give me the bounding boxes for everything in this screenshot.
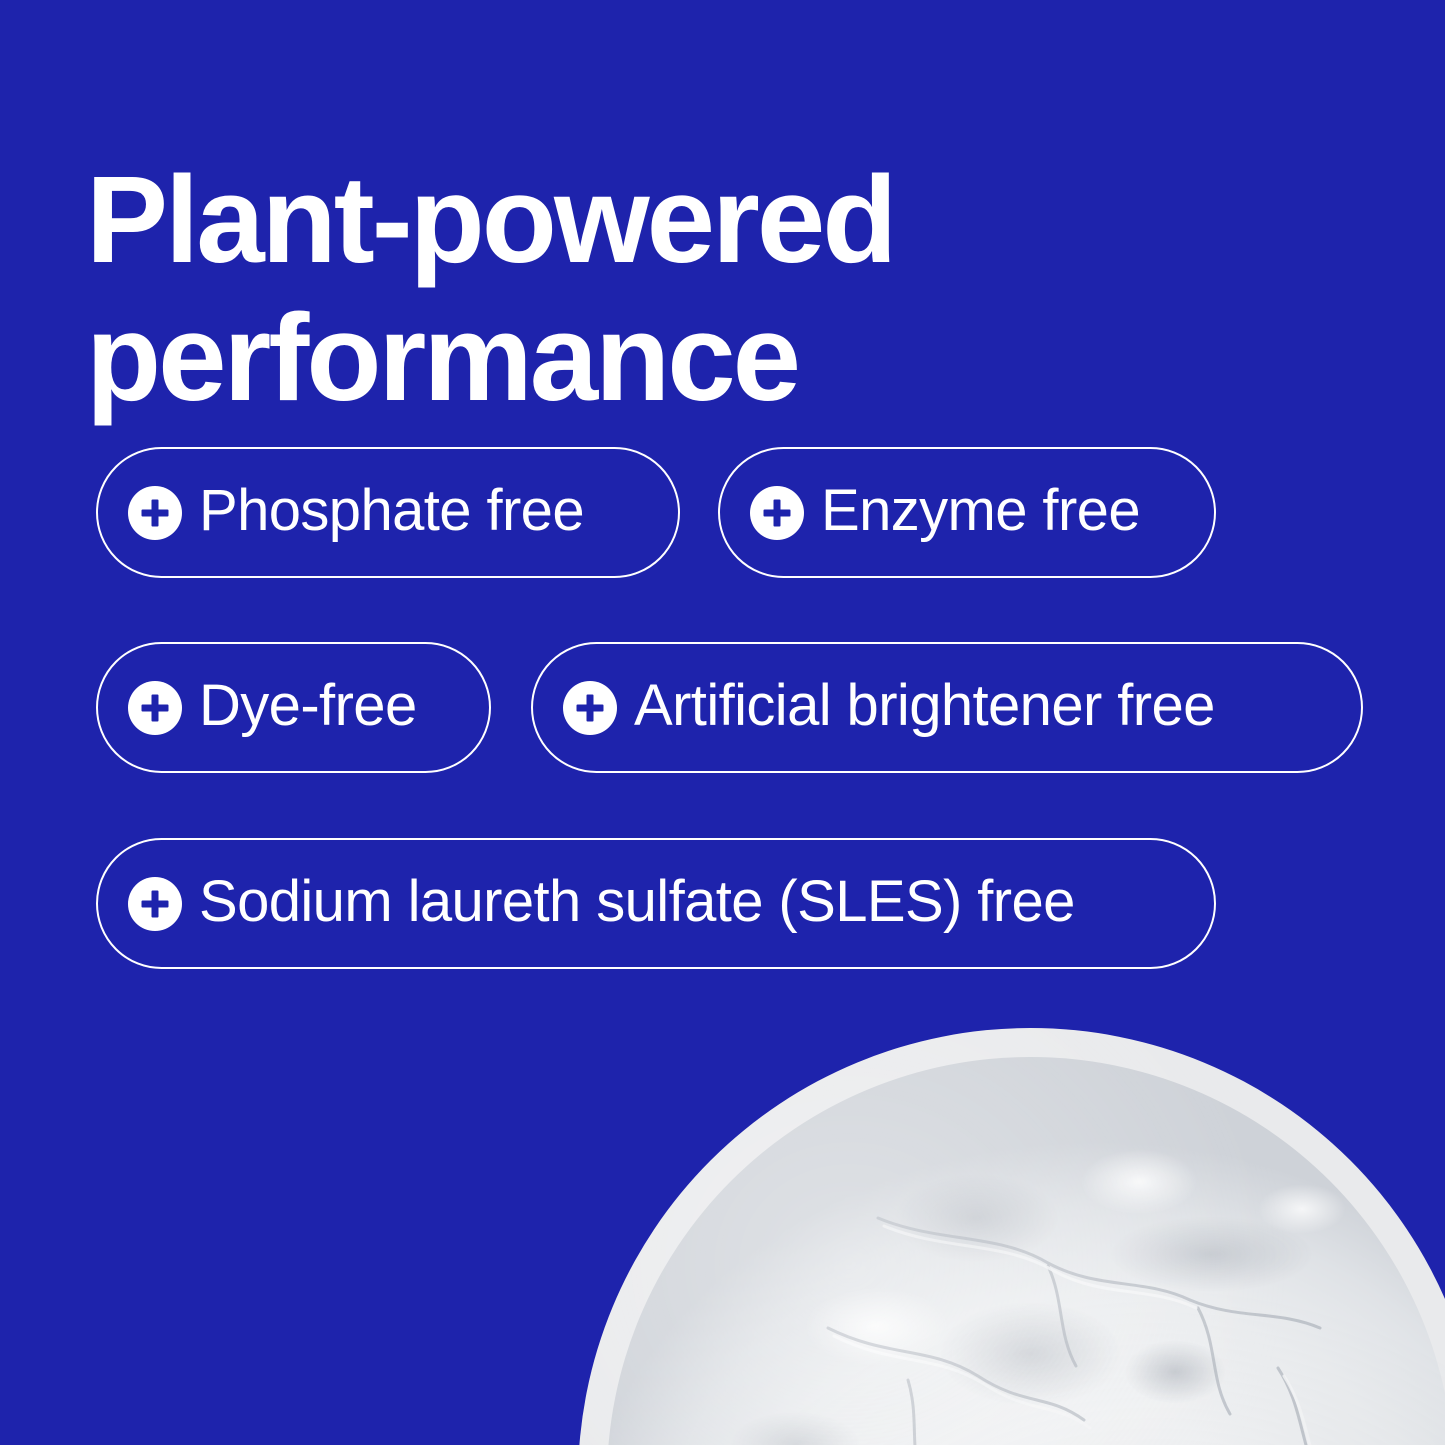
benefit-pill-enzyme-free: Enzyme free <box>718 447 1216 578</box>
benefit-pill-dye-free: Dye-free <box>96 642 491 773</box>
detergent-powder-photo <box>578 1028 1445 1445</box>
benefit-pill-artificial-brightener-free: Artificial brightener free <box>531 642 1363 773</box>
benefit-pill-label: Enzyme free <box>821 482 1140 543</box>
plus-circle-icon <box>128 681 182 735</box>
benefit-pill-label: Phosphate free <box>199 482 584 543</box>
product-feature-graphic: Plant-powered performance Phosphate free… <box>0 0 1445 1445</box>
plus-circle-icon <box>563 681 617 735</box>
plus-circle-icon <box>128 486 182 540</box>
benefit-pill-phosphate-free: Phosphate free <box>96 447 680 578</box>
plus-circle-icon <box>750 486 804 540</box>
benefit-pill-label: Sodium laureth sulfate (SLES) free <box>199 873 1075 934</box>
benefit-pill-label: Artificial brightener free <box>634 677 1215 738</box>
benefit-pill-label: Dye-free <box>199 677 417 738</box>
benefit-pill-sles-free: Sodium laureth sulfate (SLES) free <box>96 838 1216 969</box>
plus-circle-icon <box>128 877 182 931</box>
